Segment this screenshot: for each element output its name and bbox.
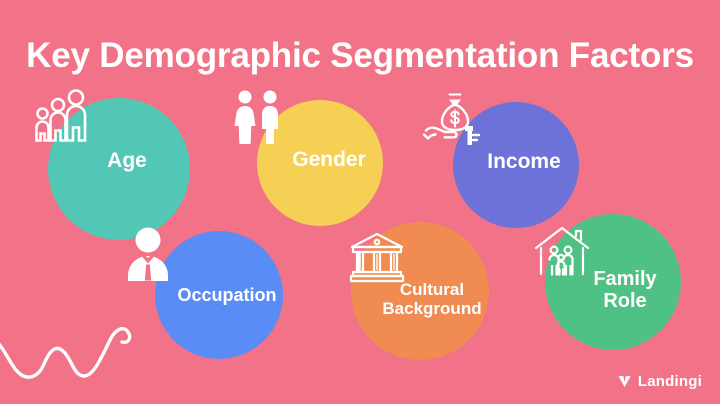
bubble-label-income: Income — [487, 150, 561, 174]
landingi-logo-text: Landingi — [638, 373, 702, 390]
bubble-label-age: Age — [107, 149, 147, 173]
bubble-income[interactable]: Income — [453, 102, 579, 228]
bubble-family-role[interactable]: Family Role — [545, 214, 681, 350]
bubble-label-gender: Gender — [292, 148, 366, 172]
page-title: Key Demographic Segmentation Factors — [0, 36, 720, 76]
infographic-canvas: Key Demographic Segmentation Factors Age… — [0, 0, 720, 404]
landingi-diamond-icon — [617, 374, 632, 389]
bubble-label-family-role: Family Role — [593, 268, 656, 313]
landingi-logo[interactable]: Landingi — [617, 373, 702, 390]
bubble-age[interactable]: Age — [48, 98, 190, 240]
bubble-label-cultural-background: Cultural Background — [382, 280, 481, 318]
bubble-cultural-background[interactable]: Cultural Background — [351, 222, 489, 360]
bubble-gender[interactable]: Gender — [257, 100, 383, 226]
bubble-occupation[interactable]: Occupation — [155, 231, 283, 359]
bubble-label-occupation: Occupation — [177, 285, 276, 305]
wave-decoration — [0, 318, 152, 396]
